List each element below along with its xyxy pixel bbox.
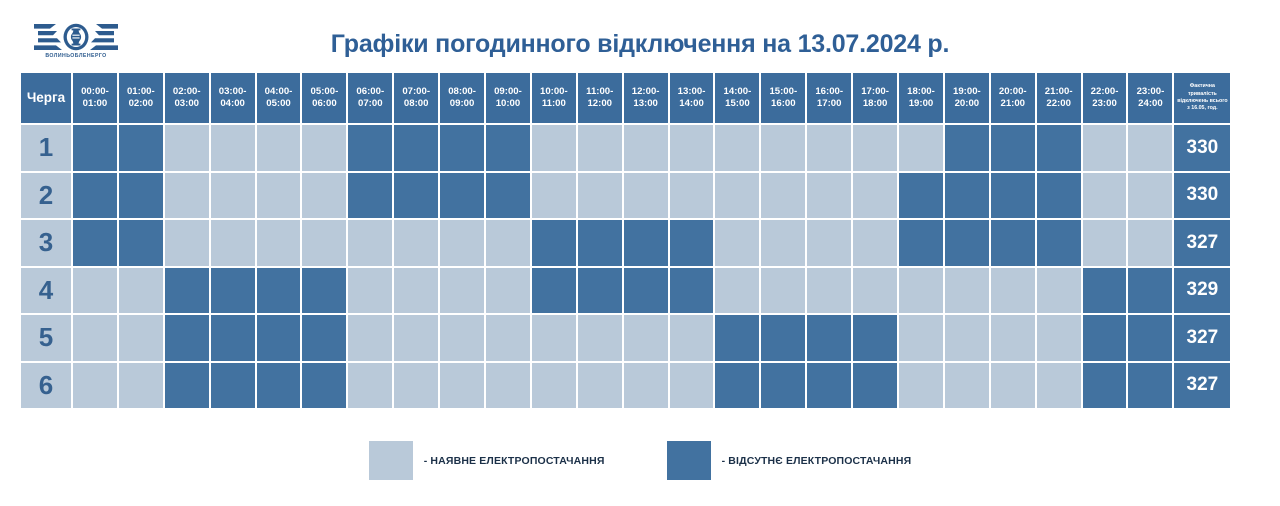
slot-power-off [118,124,164,172]
slot-power-on [714,219,760,267]
slot-power-on [898,267,944,315]
slot-power-on [210,124,256,172]
slot-power-off [898,172,944,220]
hour-column-header: 11:00-12:00 [577,72,623,124]
hour-header-line: 11:00 [542,98,566,110]
hour-header-line: 10:00 [496,98,521,110]
slot-power-on [485,267,531,315]
hour-column-header: 08:00-09:00 [439,72,485,124]
slot-power-on [256,124,302,172]
slot-power-off [256,267,302,315]
slot-power-off [669,267,715,315]
row-total: 327 [1173,219,1231,267]
slot-power-on [531,172,577,220]
slot-power-off [990,219,1036,267]
hour-header-line: 09:00- [494,86,522,98]
slot-power-off [210,267,256,315]
slot-power-on [393,219,439,267]
slot-power-on [669,124,715,172]
hour-column-header: 10:00-11:00 [531,72,577,124]
hour-header-line: 00:00- [81,86,109,98]
slot-power-on [714,172,760,220]
slot-power-off [485,172,531,220]
table-row: 1330 [20,124,1260,172]
hour-column-header: 19:00-20:00 [944,72,990,124]
slot-power-off [714,362,760,410]
slot-power-on [347,267,393,315]
queue-number: 2 [20,172,72,220]
hour-header-line: 01:00- [127,86,155,98]
slot-power-on [852,172,898,220]
slot-power-on [1036,314,1082,362]
slot-power-on [531,314,577,362]
slot-power-off [531,219,577,267]
hour-header-line: 05:00- [311,86,339,98]
hour-column-header: 15:00-16:00 [760,72,806,124]
slot-power-on [118,362,164,410]
hour-header-line: 06:00 [312,98,337,110]
hour-header-line: 14:00- [724,86,752,98]
slot-power-on [714,124,760,172]
slot-power-off [1127,267,1173,315]
slot-power-on [118,267,164,315]
slot-power-off [164,362,210,410]
slot-power-off [1082,314,1128,362]
legend-label: - НАЯВНЕ ЕЛЕКТРОПОСТАЧАННЯ [424,455,605,467]
slot-power-on [439,219,485,267]
slot-power-on [1082,124,1128,172]
slot-power-off [393,172,439,220]
hour-column-header: 22:00-23:00 [1082,72,1128,124]
hour-header-line: 22:00- [1091,86,1119,98]
page-header: ВОЛИНЬОБЛЕНЕРГО Графіки погодинного відк… [0,0,1280,72]
slot-power-off [669,219,715,267]
hour-header-line: 21:00 [1000,98,1025,110]
slot-power-on [623,362,669,410]
slot-power-on [577,314,623,362]
slot-power-off [72,172,118,220]
slot-power-on [256,219,302,267]
slot-power-on [72,362,118,410]
table-body: 133023303327432953276327 [20,124,1260,409]
slot-power-on [898,314,944,362]
hour-header-line: 16:00 [771,98,796,110]
hour-header-line: 10:00- [540,86,568,98]
hour-column-header: 13:00-14:00 [669,72,715,124]
table-header-row: Черга00:00-01:0001:00-02:0002:00-03:0003… [20,72,1260,124]
hour-header-line: 17:00 [817,98,842,110]
slot-power-on [669,314,715,362]
slot-power-off [852,314,898,362]
slot-power-on [806,172,852,220]
slot-power-on [210,219,256,267]
slot-power-on [577,124,623,172]
hour-header-line: 05:00 [266,98,291,110]
row-total: 330 [1173,124,1231,172]
slot-power-off [1127,314,1173,362]
slot-power-on [439,362,485,410]
slot-power-off [806,314,852,362]
table-row: 4329 [20,267,1260,315]
slot-power-on [760,267,806,315]
hour-header-line: 16:00- [815,86,843,98]
slot-power-off [577,267,623,315]
hour-column-header: 17:00-18:00 [852,72,898,124]
hour-header-line: 07:00 [358,98,383,110]
queue-number: 5 [20,314,72,362]
row-total: 327 [1173,314,1231,362]
slot-power-off [439,172,485,220]
slot-power-on [72,267,118,315]
slot-power-on [1127,219,1173,267]
slot-power-off [72,124,118,172]
hour-header-line: 01:00 [83,98,108,110]
slot-power-off [210,314,256,362]
slot-power-off [347,124,393,172]
hour-header-line: 03:00 [174,98,199,110]
hour-column-header: 20:00-21:00 [990,72,1036,124]
row-total: 330 [1173,172,1231,220]
hour-header-line: 12:00- [632,86,660,98]
slot-power-off [301,267,347,315]
slot-power-on [623,314,669,362]
queue-number: 6 [20,362,72,410]
hour-header-line: 18:00- [907,86,935,98]
slot-power-off [256,362,302,410]
queue-number: 3 [20,219,72,267]
hour-column-header: 05:00-06:00 [301,72,347,124]
slot-power-on [485,362,531,410]
hour-header-line: 04:00 [220,98,245,110]
slot-power-on [1127,124,1173,172]
slot-power-on [760,219,806,267]
hour-header-line: 15:00- [769,86,797,98]
slot-power-off [623,267,669,315]
slot-power-off [898,219,944,267]
slot-power-off [806,362,852,410]
slot-power-on [301,124,347,172]
slot-power-off [439,124,485,172]
slot-power-on [990,267,1036,315]
slot-power-on [944,267,990,315]
hour-header-line: 03:00- [219,86,247,98]
slot-power-off [347,172,393,220]
slot-power-on [301,172,347,220]
slot-power-on [531,362,577,410]
slot-power-off [1036,124,1082,172]
hour-column-header: 21:00-22:00 [1036,72,1082,124]
legend-label: - ВІДСУТНЄ ЕЛЕКТРОПОСТАЧАННЯ [722,455,912,467]
legend-item: - НАЯВНЕ ЕЛЕКТРОПОСТАЧАННЯ [369,441,605,480]
legend: - НАЯВНЕ ЕЛЕКТРОПОСТАЧАННЯ- ВІДСУТНЄ ЕЛЕ… [0,441,1280,480]
queue-column-header: Черга [20,72,72,124]
hour-header-line: 19:00 [909,98,934,110]
slot-power-on [577,172,623,220]
slot-power-off [944,219,990,267]
slot-power-on [1082,219,1128,267]
slot-power-on [1082,172,1128,220]
queue-number: 1 [20,124,72,172]
slot-power-off [944,172,990,220]
slot-power-off [164,314,210,362]
table-row: 6327 [20,362,1260,410]
slot-power-on [1127,172,1173,220]
slot-power-on [944,314,990,362]
slot-power-off [393,124,439,172]
hour-header-line: 06:00- [356,86,384,98]
hour-header-line: 20:00- [999,86,1027,98]
hour-column-header: 00:00-01:00 [72,72,118,124]
slot-power-on [256,172,302,220]
slot-power-off [1036,219,1082,267]
slot-power-on [623,172,669,220]
slot-power-on [577,362,623,410]
slot-power-off [760,362,806,410]
hour-column-header: 04:00-05:00 [256,72,302,124]
hour-column-header: 14:00-15:00 [714,72,760,124]
slot-power-on [164,124,210,172]
slot-power-on [301,219,347,267]
hour-header-line: 07:00- [402,86,430,98]
slot-power-on [944,362,990,410]
slot-power-off [1082,267,1128,315]
hour-column-header: 07:00-08:00 [393,72,439,124]
hour-column-header: 16:00-17:00 [806,72,852,124]
table-row: 2330 [20,172,1260,220]
hour-column-header: 23:00-24:00 [1127,72,1173,124]
slot-power-off [118,172,164,220]
slot-power-on [210,172,256,220]
slot-power-on [898,124,944,172]
hour-header-line: 04:00- [265,86,293,98]
slot-power-on [852,219,898,267]
hour-header-line: 13:00 [633,98,658,110]
slot-power-on [852,267,898,315]
slot-power-off [256,314,302,362]
slot-power-on [393,267,439,315]
slot-power-on [669,362,715,410]
hour-header-line: 12:00 [587,98,612,110]
slot-power-off [852,362,898,410]
hour-header-line: 21:00- [1045,86,1073,98]
hour-header-line: 19:00- [953,86,981,98]
hour-header-line: 20:00 [955,98,980,110]
slot-power-off [72,219,118,267]
slot-power-on [1036,362,1082,410]
slot-power-on [439,314,485,362]
slot-power-off [1036,172,1082,220]
hour-header-line: 08:00 [404,98,429,110]
slot-power-on [806,124,852,172]
slot-power-on [852,124,898,172]
slot-power-off [1127,362,1173,410]
legend-item: - ВІДСУТНЄ ЕЛЕКТРОПОСТАЧАННЯ [667,441,912,480]
slot-power-off [990,124,1036,172]
slot-power-on [760,172,806,220]
slot-power-off [1082,362,1128,410]
slot-power-off [164,267,210,315]
hour-header-line: 17:00- [861,86,889,98]
slot-power-on [393,314,439,362]
slot-power-on [118,314,164,362]
slot-power-on [393,362,439,410]
hour-header-line: 11:00- [586,86,613,98]
slot-power-on [485,219,531,267]
slot-power-on [347,219,393,267]
slot-power-on [531,124,577,172]
hour-column-header: 02:00-03:00 [164,72,210,124]
slot-power-off [301,362,347,410]
hour-header-line: 08:00- [448,86,476,98]
page-title: Графіки погодинного відключення на 13.07… [0,30,1280,59]
hour-header-line: 09:00 [450,98,475,110]
slot-power-on [164,172,210,220]
slot-power-on [485,314,531,362]
slot-power-on [347,362,393,410]
slot-power-on [898,362,944,410]
hour-header-line: 24:00 [1138,98,1163,110]
hour-column-header: 12:00-13:00 [623,72,669,124]
table-row: 3327 [20,219,1260,267]
total-column-header: Фактична тривалість відключень всього з … [1173,72,1231,124]
slot-power-on [760,124,806,172]
slot-power-on [806,267,852,315]
slot-power-off [485,124,531,172]
slot-power-on [623,124,669,172]
hour-header-line: 13:00- [678,86,706,98]
hour-header-line: 23:00 [1092,98,1117,110]
slot-power-on [347,314,393,362]
slot-power-off [118,219,164,267]
row-total: 327 [1173,362,1231,410]
slot-power-off [301,314,347,362]
outage-schedule-table: Черга00:00-01:0001:00-02:0002:00-03:0003… [20,72,1260,409]
hour-header-line: 15:00 [725,98,750,110]
hour-header-line: 23:00- [1137,86,1165,98]
slot-power-off [944,124,990,172]
hour-column-header: 03:00-04:00 [210,72,256,124]
slot-power-on [990,362,1036,410]
hour-column-header: 01:00-02:00 [118,72,164,124]
hour-header-line: 02:00- [173,86,201,98]
slot-power-off [210,362,256,410]
slot-power-on [439,267,485,315]
slot-power-off [714,314,760,362]
slot-power-on [72,314,118,362]
queue-number: 4 [20,267,72,315]
slot-power-off [990,172,1036,220]
legend-swatch-power-off [667,441,711,480]
slot-power-on [806,219,852,267]
slot-power-on [714,267,760,315]
hour-header-line: 14:00 [679,98,704,110]
hour-header-line: 02:00 [129,98,154,110]
row-total: 329 [1173,267,1231,315]
slot-power-off [760,314,806,362]
slot-power-on [164,219,210,267]
slot-power-off [623,219,669,267]
table-row: 5327 [20,314,1260,362]
hour-column-header: 18:00-19:00 [898,72,944,124]
slot-power-off [577,219,623,267]
legend-swatch-power-on [369,441,413,480]
hour-header-line: 22:00 [1046,98,1071,110]
slot-power-on [1036,267,1082,315]
hour-column-header: 09:00-10:00 [485,72,531,124]
slot-power-off [531,267,577,315]
hour-header-line: 18:00 [863,98,888,110]
hour-column-header: 06:00-07:00 [347,72,393,124]
slot-power-on [669,172,715,220]
slot-power-on [990,314,1036,362]
